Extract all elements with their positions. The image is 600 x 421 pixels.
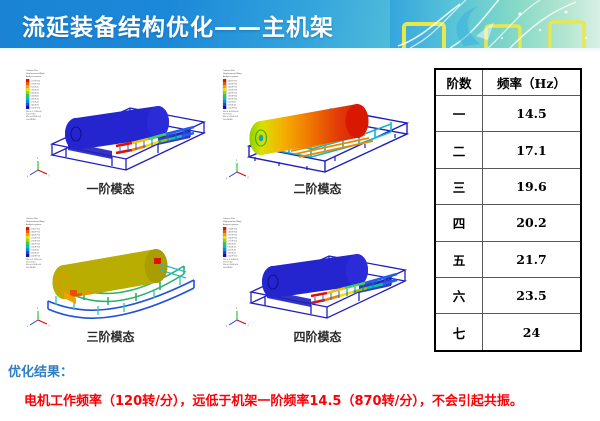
svg-text:8.800E-01: 8.800E-01 [228, 243, 237, 245]
svg-text:1.110E+00: 1.110E+00 [228, 239, 237, 242]
svg-text:Grid 11922: Grid 11922 [26, 261, 35, 264]
svg-text:Contour Plot: Contour Plot [26, 69, 38, 72]
table-header-frequency: 频率（Hz） [483, 69, 582, 96]
cell-order: 三 [435, 168, 483, 204]
panel-caption-3: 三阶模态 [8, 328, 213, 345]
slide-root: 流延装备结构优化——主机架 Contour Plot Displacement(… [0, 0, 600, 421]
svg-text:6.500E-01: 6.500E-01 [228, 246, 237, 248]
svg-text:1.570E+00: 1.570E+00 [228, 233, 237, 236]
modal-panel-1: Contour Plot Displacement(Mag) Analysis … [8, 58, 213, 206]
result-label: 优化结果： [8, 361, 73, 380]
svg-text:4.000E-01: 4.000E-01 [31, 98, 40, 100]
svg-text:Grid 12211: Grid 12211 [223, 113, 232, 116]
svg-text:6.600E-01: 6.600E-01 [31, 92, 40, 94]
svg-text:4.000E-01: 4.000E-01 [228, 104, 237, 106]
svg-text:1.400E+00: 1.400E+00 [228, 97, 237, 100]
svg-text:0.000E+00: 0.000E+00 [31, 106, 40, 109]
table-row: 六 23.5 [435, 277, 581, 313]
svg-text:Displacement(Mag): Displacement(Mag) [223, 220, 242, 223]
modal-panel-2: Contour Plot Displacement(Mag) Analysis … [215, 58, 420, 206]
svg-text:9.000E-01: 9.000E-01 [228, 101, 237, 103]
svg-text:7.900E-01: 7.900E-01 [31, 89, 40, 91]
cell-order: 四 [435, 205, 483, 241]
svg-text:Grid 38080: Grid 38080 [26, 266, 35, 269]
svg-text:4.200E-01: 4.200E-01 [228, 249, 237, 251]
table-row: 四 20.2 [435, 205, 581, 241]
svg-text:1.173E+00: 1.173E+00 [31, 79, 40, 82]
svg-text:Max = 2.008E+00: Max = 2.008E+00 [223, 258, 238, 261]
panel-caption-4: 四阶模态 [215, 328, 420, 345]
svg-text:Grid 38080: Grid 38080 [223, 118, 232, 121]
svg-text:5.300E-01: 5.300E-01 [31, 95, 40, 97]
svg-text:Grid 38080: Grid 38080 [26, 118, 35, 121]
cell-frequency: 23.5 [483, 277, 582, 313]
page-title: 流延装备结构优化——主机架 [22, 8, 334, 42]
svg-text:3.400E+00: 3.400E+00 [228, 85, 237, 88]
svg-text:9.200E-01: 9.200E-01 [31, 86, 40, 88]
cell-order: 一 [435, 96, 483, 132]
svg-text:2.008E+00: 2.008E+00 [228, 227, 237, 230]
svg-text:Contour Plot: Contour Plot [223, 69, 235, 72]
cell-frequency: 20.2 [483, 205, 582, 241]
svg-text:Displacement(Mag): Displacement(Mag) [26, 220, 45, 223]
svg-text:3.900E+00: 3.900E+00 [228, 82, 237, 85]
svg-text:7.000E-01: 7.000E-01 [31, 249, 40, 251]
cell-order: 七 [435, 314, 483, 351]
fea-render-1: Contour Plot Displacement(Mag) Analysis … [8, 58, 213, 182]
svg-text:1.900E+00: 1.900E+00 [228, 94, 237, 97]
svg-text:Min = 0.000E+00: Min = 0.000E+00 [223, 115, 238, 118]
cell-frequency: 19.6 [483, 168, 582, 204]
svg-text:Analysis system: Analysis system [223, 75, 238, 78]
panel-caption-1: 一阶模态 [8, 180, 213, 197]
svg-text:4.431E+00: 4.431E+00 [228, 79, 237, 82]
table-header-row: 阶数 频率（Hz） [435, 69, 581, 96]
modal-analysis-panels: Contour Plot Displacement(Mag) Analysis … [8, 58, 420, 354]
svg-text:2.450E+00: 2.450E+00 [31, 233, 40, 236]
svg-text:1.800E+00: 1.800E+00 [228, 230, 237, 233]
svg-text:Grid 17382: Grid 17382 [223, 261, 232, 264]
svg-text:3.141E+00: 3.141E+00 [31, 227, 40, 230]
svg-text:1.750E+00: 1.750E+00 [31, 239, 40, 242]
fea-render-4: Contour Plot Displacement(Mag) Analysis … [215, 206, 420, 330]
cell-frequency: 24 [483, 314, 582, 351]
fea-render-2: Contour Plot Displacement(Mag) Analysis … [215, 58, 420, 182]
svg-text:0.000E+00: 0.000E+00 [228, 106, 237, 109]
cell-frequency: 21.7 [483, 241, 582, 277]
svg-text:Min = 0.000E+00: Min = 0.000E+00 [26, 263, 41, 266]
frequency-table: 阶数 频率（Hz） 一 14.5 二 17.1 三 19.6 四 [434, 68, 582, 352]
table-row: 三 19.6 [435, 168, 581, 204]
cell-order: 二 [435, 132, 483, 168]
svg-text:2.900E+00: 2.900E+00 [228, 88, 237, 91]
svg-text:1.400E-01: 1.400E-01 [31, 104, 40, 106]
table-row: 一 14.5 [435, 96, 581, 132]
svg-text:Displacement(Mag): Displacement(Mag) [26, 72, 45, 75]
svg-text:0.000E+00: 0.000E+00 [31, 254, 40, 257]
svg-text:Min = 0.000E+00: Min = 0.000E+00 [223, 263, 238, 266]
fea-render-3: Contour Plot Displacement(Mag) Analysis … [8, 206, 213, 330]
svg-text:2.100E+00: 2.100E+00 [31, 236, 40, 239]
frequency-table-wrap: 阶数 频率（Hz） 一 14.5 二 17.1 三 19.6 四 [434, 68, 582, 352]
svg-text:1.900E-01: 1.900E-01 [228, 252, 237, 254]
modal-panel-3: Contour Plot Displacement(Mag) Analysis … [8, 206, 213, 354]
svg-text:Analysis system: Analysis system [26, 75, 41, 78]
svg-text:3.500E-01: 3.500E-01 [31, 252, 40, 254]
svg-text:Min = 0.000E+00: Min = 0.000E+00 [26, 115, 41, 118]
table-row: 二 17.1 [435, 132, 581, 168]
cell-frequency: 14.5 [483, 96, 582, 132]
svg-text:Contour Plot: Contour Plot [26, 217, 38, 220]
table-row: 七 24 [435, 314, 581, 351]
header-divider [0, 48, 600, 53]
svg-text:Contour Plot: Contour Plot [223, 217, 235, 220]
svg-text:Analysis system: Analysis system [223, 223, 238, 226]
cell-order: 六 [435, 277, 483, 313]
svg-text:0.000E+00: 0.000E+00 [228, 254, 237, 257]
svg-text:Analysis system: Analysis system [26, 223, 41, 226]
svg-text:2.400E+00: 2.400E+00 [228, 91, 237, 94]
svg-text:Displacement(Mag): Displacement(Mag) [223, 72, 242, 75]
svg-text:Max = 4.431E+00: Max = 4.431E+00 [223, 110, 238, 113]
svg-text:1.400E+00: 1.400E+00 [31, 242, 40, 245]
svg-text:1.340E+00: 1.340E+00 [228, 236, 237, 239]
svg-text:1.050E+00: 1.050E+00 [31, 245, 40, 248]
table-row: 五 21.7 [435, 241, 581, 277]
svg-text:1.050E+00: 1.050E+00 [31, 82, 40, 85]
svg-text:Max = 1.173E+00: Max = 1.173E+00 [26, 110, 41, 113]
svg-text:Max = 3.141E+00: Max = 3.141E+00 [26, 258, 41, 261]
cell-order: 五 [435, 241, 483, 277]
svg-text:Grid 38080: Grid 38080 [223, 266, 232, 269]
swirl-decoration-icon [390, 0, 600, 48]
svg-text:2.800E+00: 2.800E+00 [31, 230, 40, 233]
table-header-order: 阶数 [435, 69, 483, 96]
svg-text:2.700E-01: 2.700E-01 [31, 101, 40, 103]
cell-frequency: 17.1 [483, 132, 582, 168]
modal-panel-4: Contour Plot Displacement(Mag) Analysis … [215, 206, 420, 354]
slide-header: 流延装备结构优化——主机架 [0, 0, 600, 48]
panel-caption-2: 二阶模态 [215, 180, 420, 197]
result-conclusion-text: 电机工作频率（120转/分），远低于机架一阶频率14.5（870转/分），不会引… [24, 390, 523, 409]
svg-text:Grid 17382: Grid 17382 [26, 113, 35, 116]
